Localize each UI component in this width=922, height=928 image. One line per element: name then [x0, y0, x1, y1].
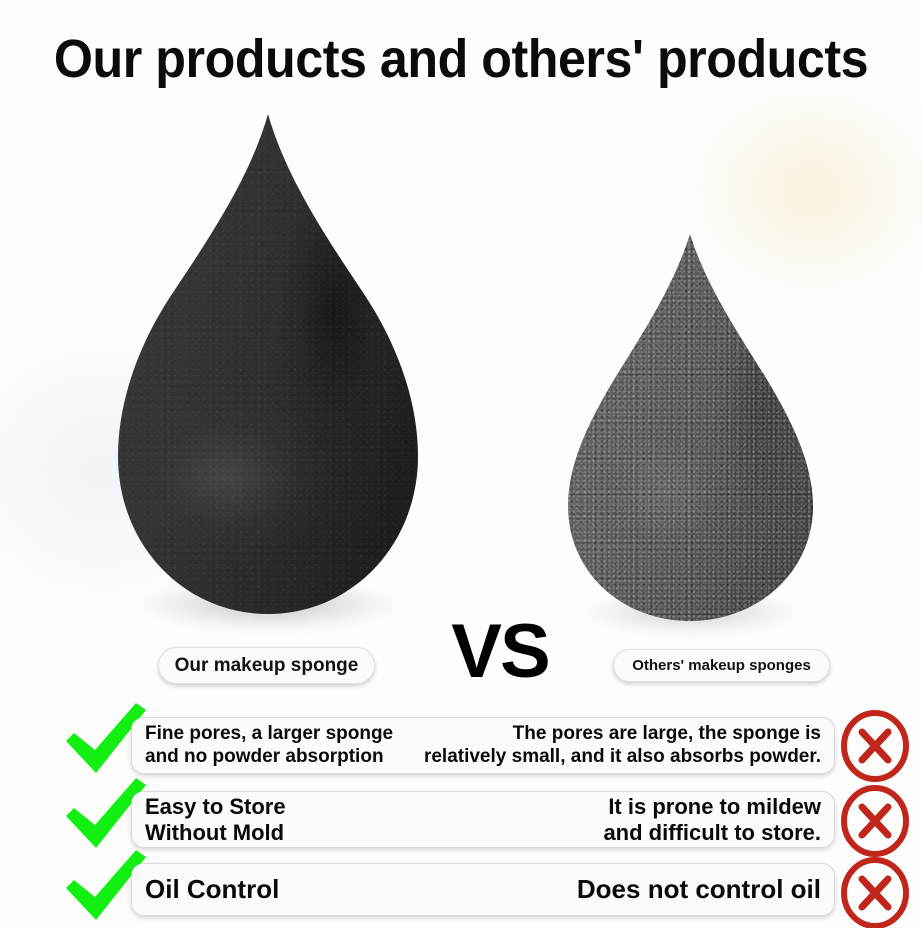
red-circle-x-icon — [838, 709, 912, 783]
red-circle-x-icon — [838, 784, 912, 858]
others-feature-text: Does not control oil — [577, 874, 821, 905]
others-sponge-label: Others' makeup sponges — [613, 649, 830, 682]
comparison-row-box: Fine pores, a larger sponge and no powde… — [131, 717, 835, 774]
our-feature-text: Oil Control — [145, 874, 279, 905]
comparison-row-box: Oil Control Does not control oil — [131, 863, 835, 916]
vs-label: VS — [440, 614, 560, 690]
our-sponge-image — [118, 108, 418, 620]
comparison-row: Oil Control Does not control oil — [0, 857, 922, 927]
our-sponge-label: Our makeup sponge — [158, 647, 375, 684]
red-circle-x-icon — [838, 856, 912, 928]
comparison-row-box: Easy to Store Without Mold It is prone t… — [131, 791, 835, 848]
comparison-row: Fine pores, a larger sponge and no powde… — [0, 707, 922, 777]
others-feature-text: The pores are large, the sponge is relat… — [424, 723, 821, 768]
our-feature-text: Fine pores, a larger sponge and no powde… — [145, 723, 393, 768]
our-sponge-texture — [118, 108, 418, 620]
others-sponge-texture — [568, 230, 813, 625]
comparison-row: Easy to Store Without Mold It is prone t… — [0, 782, 922, 852]
comparison-infographic: Our products and others' products Our ma… — [0, 0, 922, 928]
page-title: Our products and others' products — [32, 28, 889, 90]
others-feature-text: It is prone to mildew and difficult to s… — [603, 794, 821, 846]
our-feature-text: Easy to Store Without Mold — [145, 794, 286, 846]
others-sponge-image — [568, 230, 813, 625]
